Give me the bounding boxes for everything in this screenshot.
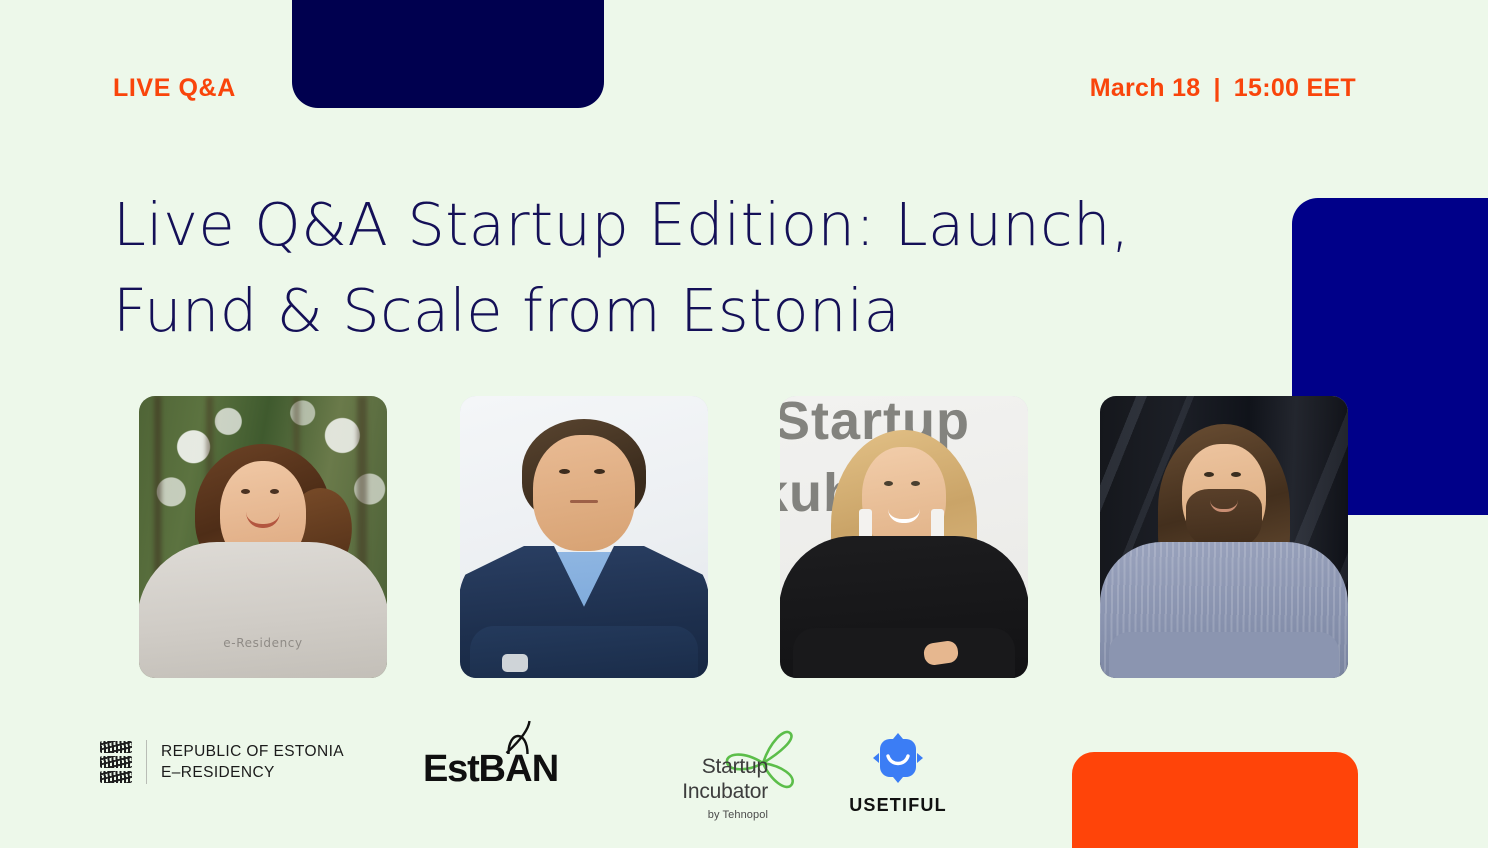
e-residency-line-1: REPUBLIC OF ESTONIA — [161, 741, 344, 762]
speaker-3-eye-left — [884, 481, 893, 486]
speaker-2-mouth — [570, 500, 598, 503]
smiley-badge-icon — [872, 732, 924, 784]
incubator-line-2: Incubator — [636, 779, 768, 804]
estonia-coat-of-arms-icon — [100, 741, 132, 783]
decorative-navy-rect-top — [292, 0, 604, 108]
logo-estban: EstB A N — [423, 748, 558, 791]
speaker-3-image: Startup kubator pol — [780, 396, 1028, 678]
logo-divider — [146, 740, 147, 784]
speaker-3-eye-right — [911, 481, 920, 486]
eyebrow-label: LIVE Q&A — [113, 74, 236, 103]
estban-suffix: N — [532, 748, 558, 791]
speaker-photo-2 — [460, 396, 708, 678]
headline-line-2: Fund & Scale from Estonia — [113, 268, 1243, 354]
logo-startup-incubator: Startup Incubator by Tehnopol — [636, 726, 816, 826]
logo-usetiful: USETIFUL — [828, 732, 968, 816]
speaker-photo-1: e-Residency — [139, 396, 387, 678]
logo-e-residency: REPUBLIC OF ESTONIA E–RESIDENCY — [100, 740, 344, 784]
speaker-2-face — [533, 435, 635, 551]
lion-icon — [100, 756, 132, 768]
estban-stylized-a: A — [505, 748, 532, 791]
lion-icon — [100, 741, 132, 753]
estban-letter: A — [505, 748, 531, 790]
e-residency-wordmark: REPUBLIC OF ESTONIA E–RESIDENCY — [161, 741, 344, 783]
speaker-1-garment-text: e-Residency — [223, 636, 302, 650]
speaker-photo-3: Startup kubator pol — [780, 396, 1028, 678]
lion-icon — [100, 771, 132, 783]
incubator-line-1: Startup — [636, 754, 768, 779]
speaker-3-crossed-arms — [793, 628, 1015, 678]
speaker-photo-row: e-Residency Startup kubator — [139, 396, 1349, 678]
speaker-photo-4 — [1100, 396, 1348, 678]
estban-loop-icon — [505, 720, 532, 754]
datetime-separator: | — [1213, 74, 1220, 103]
speaker-1-eye-left — [241, 489, 250, 494]
partner-logo-row: REPUBLIC OF ESTONIA E–RESIDENCY EstB A N — [100, 726, 1000, 826]
startup-incubator-wordmark: Startup Incubator by Tehnopol — [636, 754, 768, 821]
event-time: 15:00 EET — [1234, 74, 1356, 103]
page-title: Live Q&A Startup Edition: Launch, Fund &… — [113, 182, 1243, 354]
speaker-4-crossed-arms — [1109, 632, 1339, 678]
promo-banner: LIVE Q&A March 18 | 15:00 EET Live Q&A S… — [0, 0, 1488, 848]
headline-line-1: Live Q&A Startup Edition: Launch, — [113, 182, 1243, 268]
event-datetime: March 18 | 15:00 EET — [1090, 74, 1356, 103]
e-residency-line-2: E–RESIDENCY — [161, 762, 344, 783]
decorative-orange-rect-bottom — [1072, 752, 1358, 848]
estban-prefix: EstB — [423, 748, 505, 791]
usetiful-wordmark: USETIFUL — [828, 795, 968, 816]
speaker-2-watch — [502, 654, 528, 672]
speaker-2-image — [460, 396, 708, 678]
event-date: March 18 — [1090, 74, 1201, 103]
speaker-1-image: e-Residency — [139, 396, 387, 678]
speaker-4-image — [1100, 396, 1348, 678]
speaker-1-sweatshirt — [139, 542, 387, 678]
incubator-line-3: by Tehnopol — [636, 809, 768, 821]
